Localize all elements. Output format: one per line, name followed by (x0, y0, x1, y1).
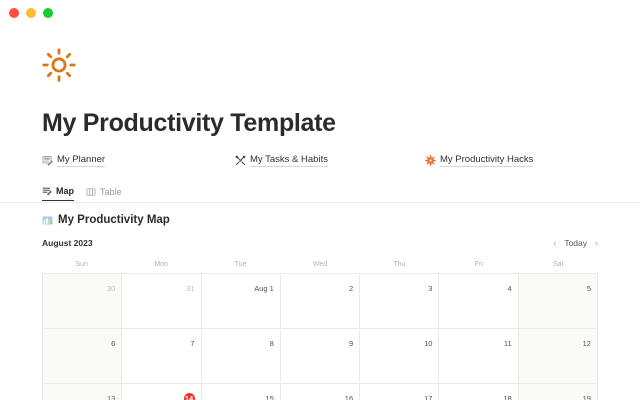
quick-link-my-planner[interactable]: My Planner (42, 154, 105, 167)
calendar-day-number: 5 (587, 284, 591, 294)
quick-links-row: My Planner My Tasks & Habits (42, 154, 598, 172)
calendar-day-cell[interactable]: 18 (439, 384, 518, 400)
calendar-day-number: 11 (504, 339, 512, 349)
city-map-icon (42, 215, 53, 226)
tab-label: Table (100, 187, 122, 197)
section-title: My Productivity Map (58, 214, 170, 226)
calendar-day-cell[interactable]: 8 (202, 329, 281, 384)
page-title: My Productivity Template (42, 108, 598, 138)
quick-link-my-productivity-hacks[interactable]: My Productivity Hacks (425, 154, 533, 167)
calendar-day-number: 17 (424, 394, 432, 400)
quick-link-label: My Planner (57, 154, 105, 167)
section-heading: My Productivity Map (42, 214, 598, 226)
calendar-day-number: Aug 1 (254, 284, 274, 294)
quick-link-label: My Tasks & Habits (250, 154, 328, 167)
calendar: Sun Mon Tue Wed Thu Fri Sat 3031Aug 1234… (42, 257, 598, 400)
calendar-day-cell[interactable]: 10 (360, 329, 439, 384)
calendar-day-cell[interactable]: Aug 1 (202, 274, 281, 329)
calendar-month-label: August 2023 (42, 238, 93, 248)
calendar-day-number: 8 (270, 339, 274, 349)
map-note-icon (42, 186, 52, 196)
calendar-day-number: 10 (424, 339, 432, 349)
minimize-button[interactable] (26, 8, 36, 18)
calendar-day-cell[interactable]: 15 (202, 384, 281, 400)
table-icon (86, 187, 96, 197)
calendar-week-row: 6789101112 (43, 329, 598, 384)
weekday-label: Thu (360, 257, 439, 273)
calendar-day-cell[interactable]: 3 (360, 274, 439, 329)
calendar-toolbar: August 2023 ‹ Today › (42, 236, 598, 250)
calendar-day-number: 12 (583, 339, 591, 349)
calendar-day-number: 13 (107, 394, 115, 400)
tab-map[interactable]: Map (42, 186, 74, 201)
calendar-day-cell[interactable]: 31 (122, 274, 201, 329)
calendar-day-cell[interactable]: 30 (43, 274, 122, 329)
tabs-divider (0, 202, 640, 203)
calendar-day-cell[interactable]: 19 (519, 384, 598, 400)
calendar-week-row: 13141516171819 (43, 384, 598, 400)
calendar-day-number: 31 (186, 284, 194, 294)
sun-icon (42, 48, 76, 82)
logo-wrapper (42, 26, 598, 96)
calendar-day-number: 2 (349, 284, 353, 294)
calendar-day-cell[interactable]: 9 (281, 329, 360, 384)
weekday-label: Sat (519, 257, 598, 273)
calendar-day-cell[interactable]: 2 (281, 274, 360, 329)
calendar-day-number: 15 (266, 394, 274, 400)
weekday-label: Mon (121, 257, 200, 273)
calendar-day-number: 7 (190, 339, 194, 349)
weekday-label: Sun (42, 257, 121, 273)
window-titlebar (0, 0, 640, 26)
quick-link-my-tasks-habits[interactable]: My Tasks & Habits (235, 154, 328, 167)
calendar-day-cell[interactable]: 11 (439, 329, 518, 384)
calendar-day-cell[interactable]: 17 (360, 384, 439, 400)
today-button[interactable]: Today (564, 238, 587, 248)
calendar-day-cell[interactable]: 16 (281, 384, 360, 400)
calendar-day-number: 3 (428, 284, 432, 294)
quick-link-label: My Productivity Hacks (440, 154, 533, 167)
weekday-label: Wed (280, 257, 359, 273)
tab-table[interactable]: Table (86, 187, 122, 201)
app-window: My Productivity Template My Planner (0, 0, 640, 400)
calendar-day-number: 30 (107, 284, 115, 294)
maximize-button[interactable] (43, 8, 53, 18)
calendar-day-number: 6 (111, 339, 115, 349)
calendar-day-number: 14 (184, 393, 195, 400)
gear-orange-icon (425, 155, 436, 166)
calendar-day-cell-today[interactable]: 14 (122, 384, 201, 400)
calendar-day-cell[interactable]: 13 (43, 384, 122, 400)
weekday-label: Fri (439, 257, 518, 273)
calendar-grid: 3031Aug 12345678910111213141516171819 (42, 273, 598, 400)
calendar-day-cell[interactable]: 7 (122, 329, 201, 384)
weekday-label: Tue (201, 257, 280, 273)
tools-icon (235, 155, 246, 166)
calendar-day-cell[interactable]: 12 (519, 329, 598, 384)
prev-month-button[interactable]: ‹ (553, 239, 556, 248)
calendar-day-cell[interactable]: 6 (43, 329, 122, 384)
calendar-day-number: 16 (345, 394, 353, 400)
tab-label: Map (56, 186, 74, 196)
traffic-light-group (9, 8, 53, 18)
memo-icon (42, 155, 53, 166)
calendar-day-number: 9 (349, 339, 353, 349)
calendar-week-row: 3031Aug 12345 (43, 274, 598, 329)
calendar-day-cell[interactable]: 4 (439, 274, 518, 329)
calendar-weekday-header: Sun Mon Tue Wed Thu Fri Sat (42, 257, 598, 273)
close-button[interactable] (9, 8, 19, 18)
calendar-day-number: 18 (503, 394, 511, 400)
calendar-nav: ‹ Today › (553, 238, 598, 248)
calendar-day-cell[interactable]: 5 (519, 274, 598, 329)
calendar-day-number: 4 (508, 284, 512, 294)
next-month-button[interactable]: › (595, 239, 598, 248)
page-content: My Productivity Template My Planner (0, 26, 640, 400)
view-tabs: Map Table (42, 184, 598, 203)
calendar-day-number: 19 (583, 394, 591, 400)
